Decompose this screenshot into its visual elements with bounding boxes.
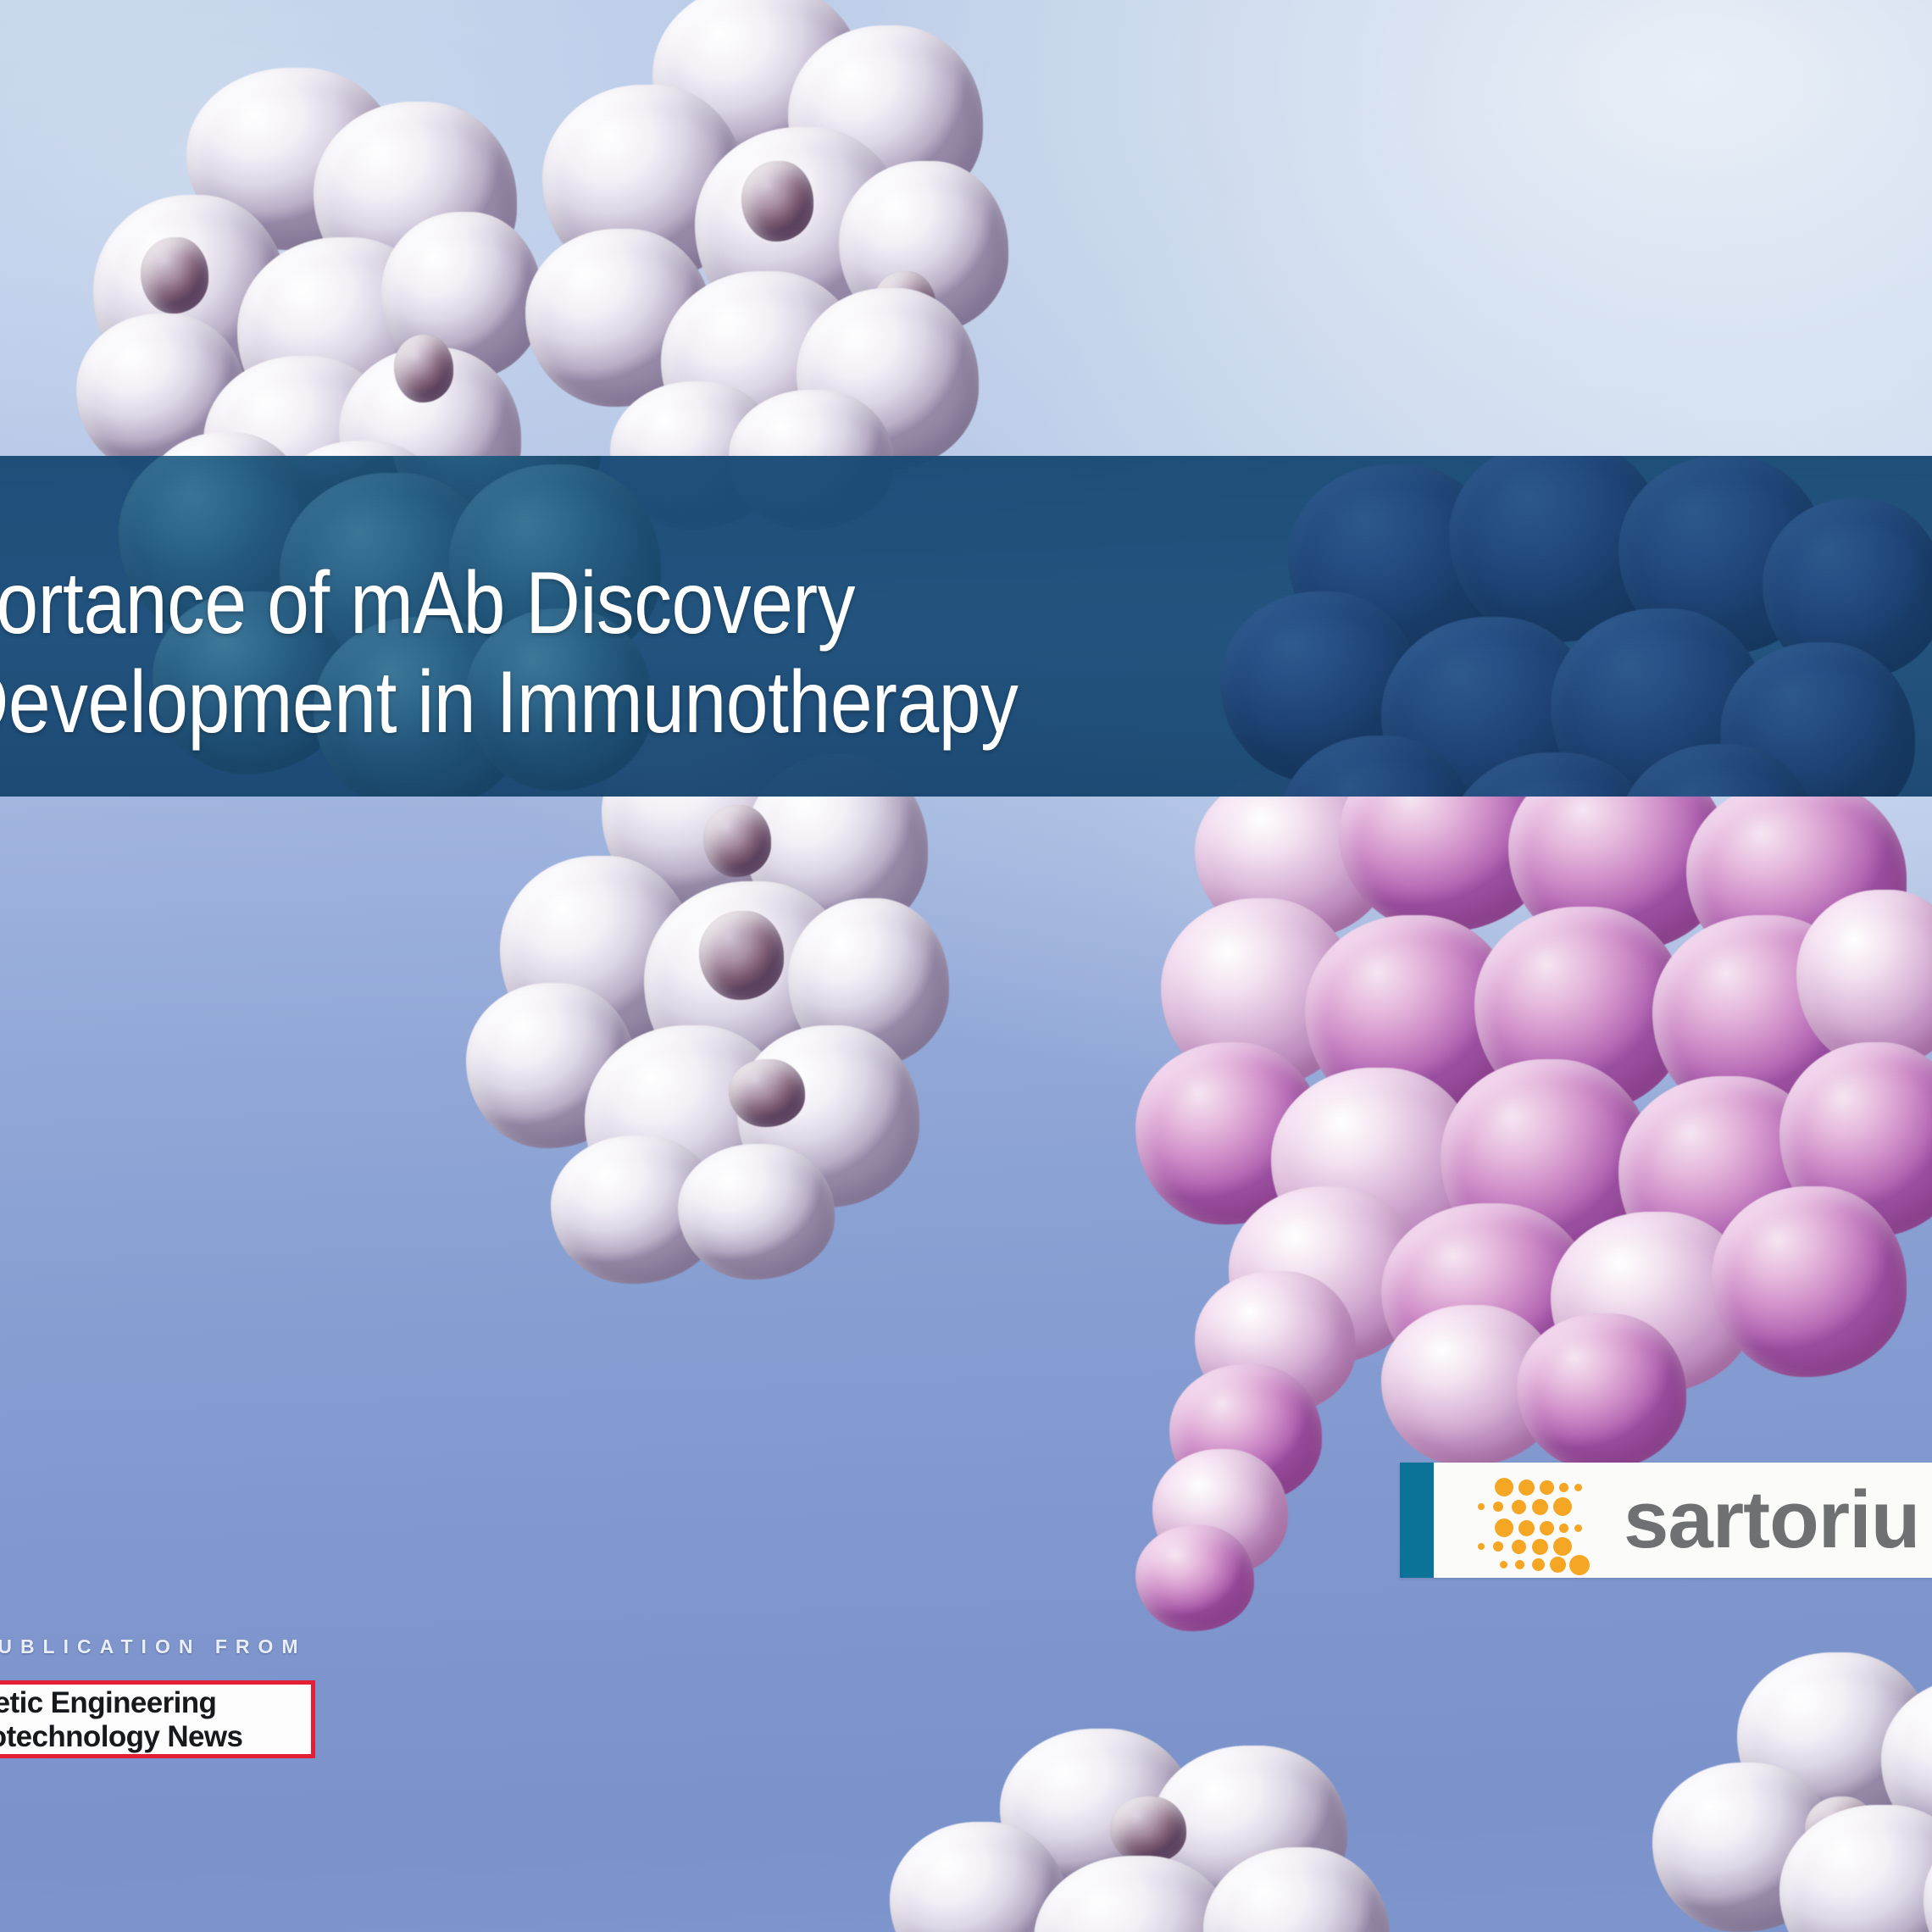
molecule-lobe bbox=[703, 805, 771, 877]
molecule-lobe bbox=[678, 1144, 835, 1280]
molecule-pale-bottom bbox=[864, 1737, 1390, 1932]
title-banner: mportance of mAb Discovery d Development… bbox=[0, 456, 1932, 797]
sartorius-logo-body: sartoriu bbox=[1434, 1463, 1932, 1578]
molecule-lobe bbox=[741, 161, 813, 241]
gen-publisher-logo-text: enetic Engineering Biotechnology News bbox=[0, 1686, 242, 1754]
cover-page: mportance of mAb Discovery d Development… bbox=[0, 0, 1932, 1932]
molecule-pale-bottom-right bbox=[1635, 1652, 1932, 1932]
molecule-lobe bbox=[1135, 1525, 1254, 1631]
gen-publisher-logo[interactable]: enetic Engineering Biotechnology News bbox=[0, 1680, 315, 1758]
molecule-lobe bbox=[1712, 1186, 1907, 1377]
molecule-pale-center bbox=[449, 746, 924, 1271]
page-title: mportance of mAb Discovery d Development… bbox=[0, 554, 956, 752]
page-title-line-1: mportance of mAb Discovery bbox=[0, 554, 956, 653]
molecule-pink-tail bbox=[1135, 1271, 1441, 1627]
molecule-lobe bbox=[141, 237, 208, 314]
sartorius-accent-bar bbox=[1400, 1463, 1434, 1578]
molecule-lobe bbox=[729, 1059, 805, 1127]
sartorius-dot-matrix-icon bbox=[1476, 1476, 1586, 1564]
page-title-line-2: d Development in Immunotherapy bbox=[0, 653, 956, 752]
molecule-lobe bbox=[699, 911, 784, 1000]
publication-kicker: PUBLICATION FROM bbox=[0, 1635, 307, 1658]
gen-logo-line-1: enetic Engineering bbox=[0, 1686, 242, 1720]
molecule-pale-top-center bbox=[508, 17, 983, 475]
gen-logo-line-2: Biotechnology News bbox=[0, 1720, 242, 1754]
sartorius-wordmark: sartoriu bbox=[1624, 1480, 1919, 1561]
sartorius-logo[interactable]: sartoriu bbox=[1400, 1463, 1932, 1578]
molecule-lobe bbox=[1517, 1313, 1686, 1470]
molecule-lobe bbox=[1110, 1796, 1186, 1864]
molecule-lobe bbox=[394, 335, 453, 402]
